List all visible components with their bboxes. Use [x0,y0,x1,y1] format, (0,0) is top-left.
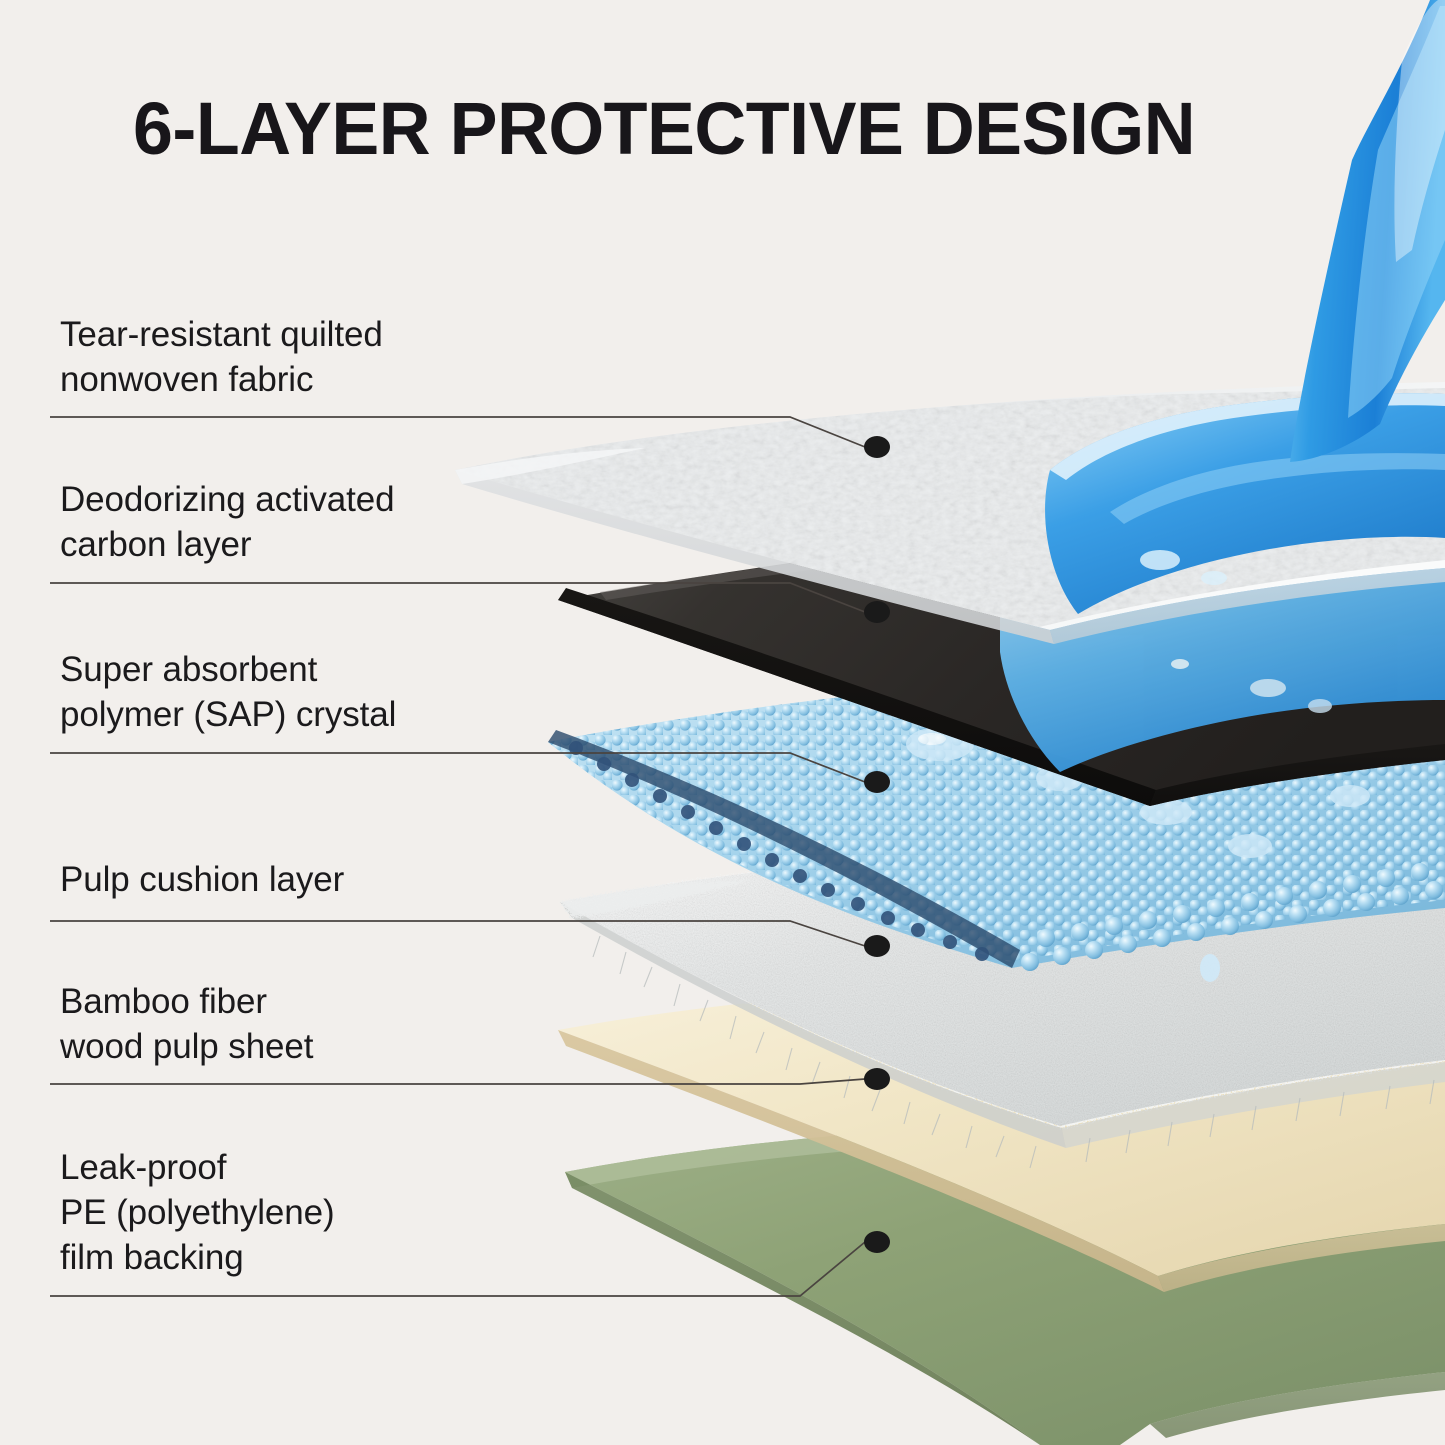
layer-label-pe-film-backing: Leak-proof PE (polyethylene) film backin… [60,1146,335,1280]
infographic-canvas: 6-LAYER PROTECTIVE DESIGN Tear-resistant… [0,0,1445,1445]
callout-dot-5 [864,1068,890,1090]
callout-dot-4 [864,935,890,957]
layer-label-nonwoven-fabric: Tear-resistant quilted nonwoven fabric [60,313,383,403]
page-title: 6-LAYER PROTECTIVE DESIGN [133,92,1195,166]
layer-label-activated-carbon: Deodorizing activated carbon layer [60,478,395,568]
callout-dot-6 [864,1231,890,1253]
layer-label-sap-crystal: Super absorbent polymer (SAP) crystal [60,648,396,738]
layer-label-bamboo-wood-pulp: Bamboo fiber wood pulp sheet [60,980,313,1070]
callout-dot-1 [864,436,890,458]
layer-label-pulp-cushion: Pulp cushion layer [60,858,344,903]
callout-dot-3 [864,771,890,793]
sap-water-drip [1200,954,1220,982]
callout-dot-2 [864,601,890,623]
